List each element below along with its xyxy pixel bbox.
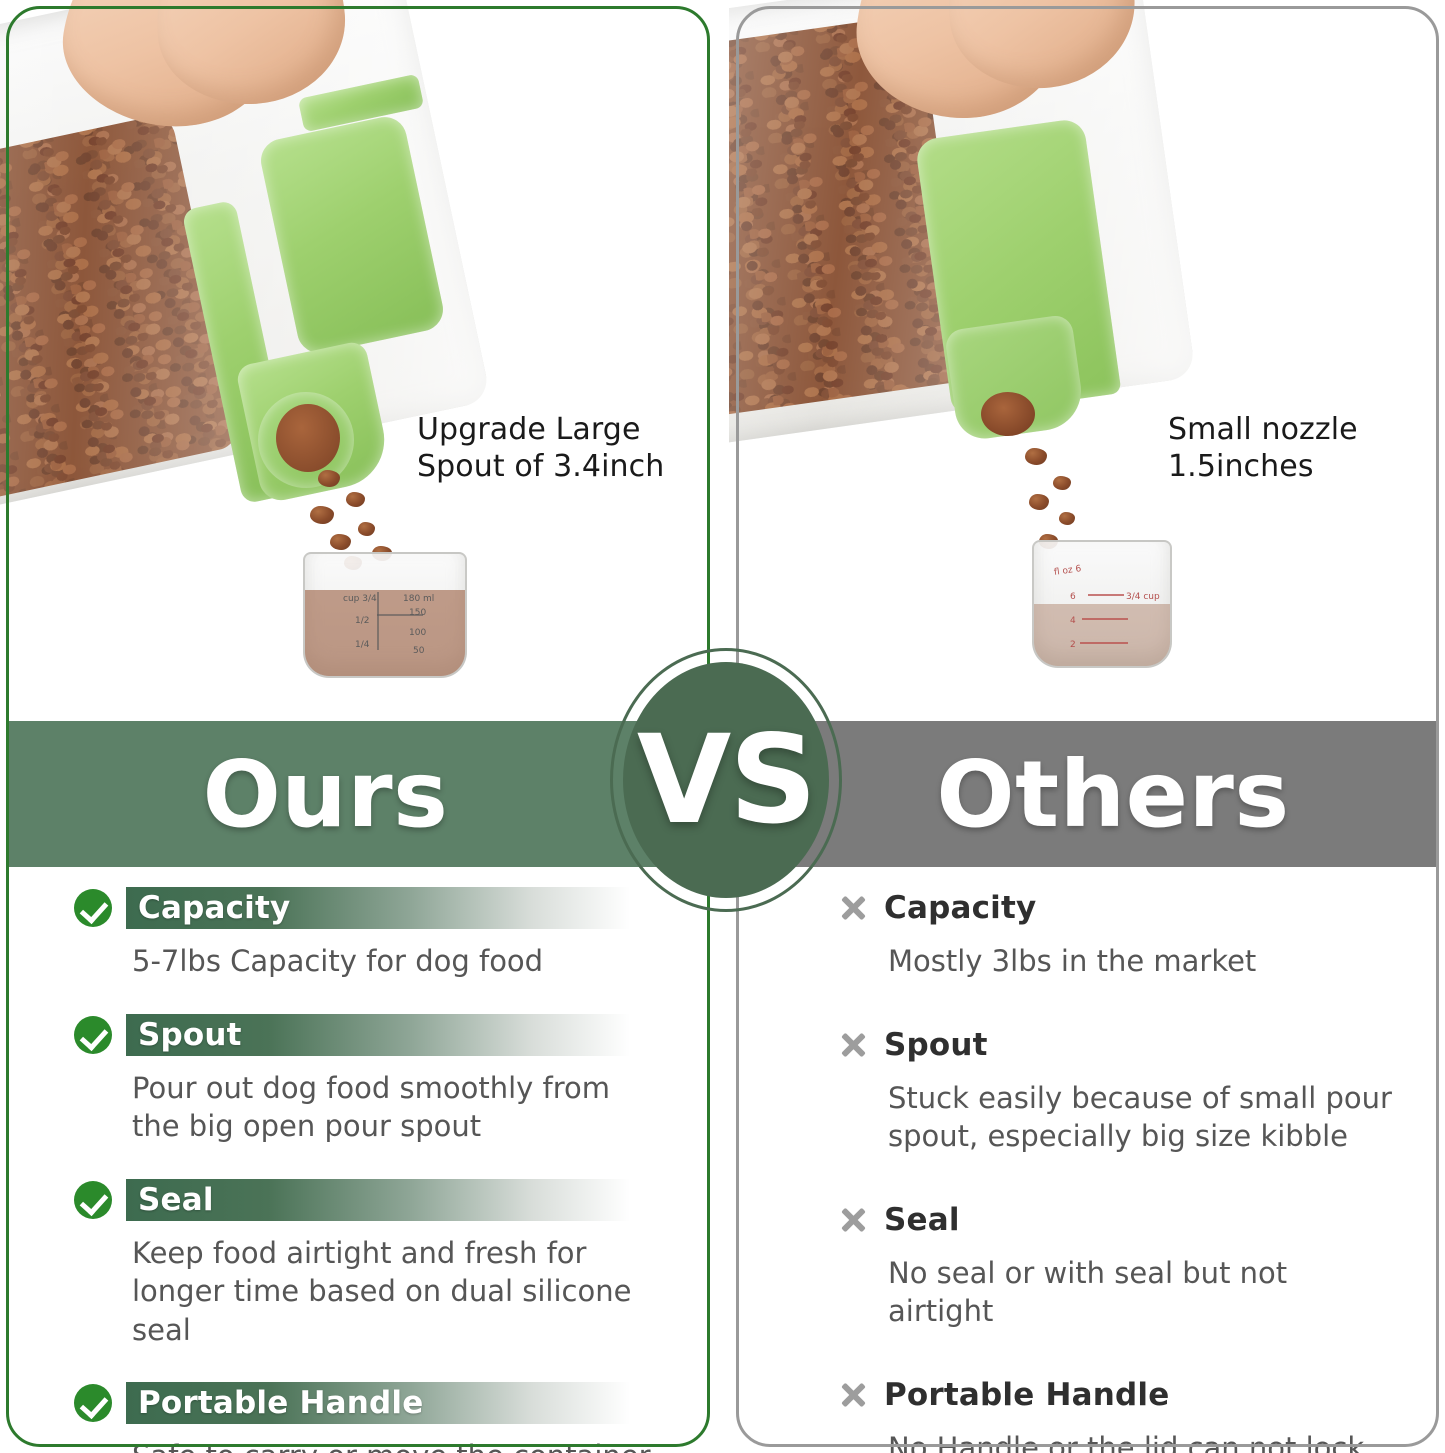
vs-badge: VS [610, 648, 842, 912]
comparison-infographic: cup 3/4 1/2 1/4 180 ml 150 100 50 [0, 0, 1445, 1453]
panel-frame-ours [6, 6, 710, 1447]
panel-frame-others [736, 6, 1439, 1447]
vs-label: VS [637, 709, 815, 851]
